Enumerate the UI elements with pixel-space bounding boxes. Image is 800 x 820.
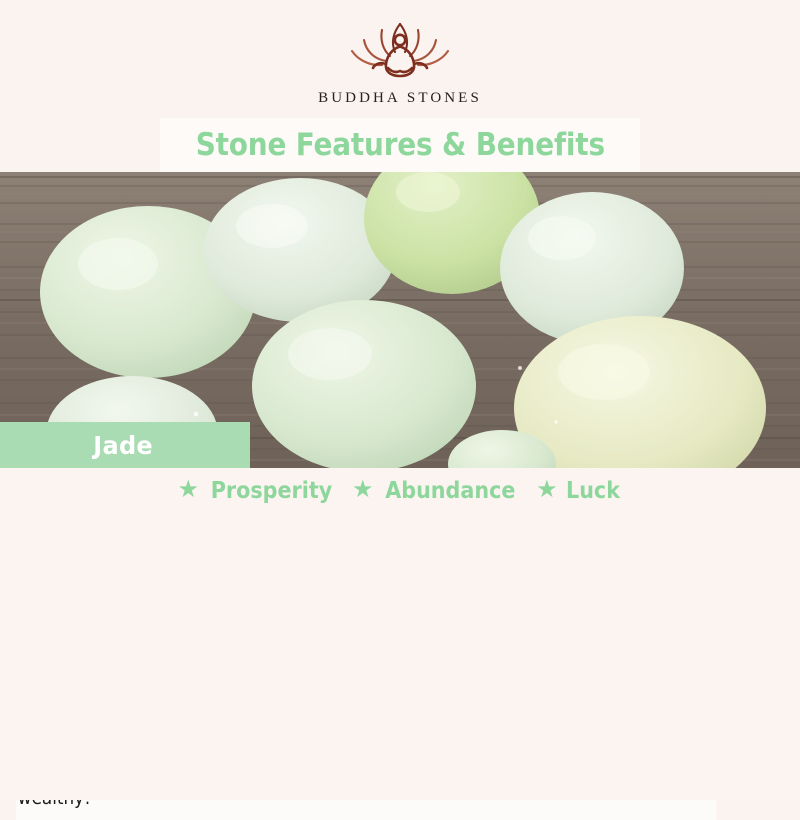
benefit-label: Luck [566,478,620,504]
star-icon: ★ [536,478,558,502]
star-icon: ★ [177,478,199,502]
star-icon: ★ [352,478,374,502]
title-banner: Stone Features & Benefits [160,118,640,172]
benefit-label: Abundance [386,478,516,504]
lotus-meditation-icon [342,18,458,84]
stone-name: Jade [93,431,153,460]
benefit-item: ★ Luck [536,478,622,504]
stone-name-bar: Jade [0,422,250,468]
benefit-item: ★ Prosperity [177,478,338,504]
benefits-list: ★ Prosperity ★ Abundance ★ Luck [0,468,800,504]
benefit-label: Prosperity [211,478,332,504]
page-title: Stone Features & Benefits [195,127,604,163]
content-panel: ★ Prosperity ★ Abundance ★ Luck [0,468,800,800]
brand-wordmark: BUDDHA STONES [318,90,482,107]
benefit-item: ★ Abundance [352,478,523,504]
